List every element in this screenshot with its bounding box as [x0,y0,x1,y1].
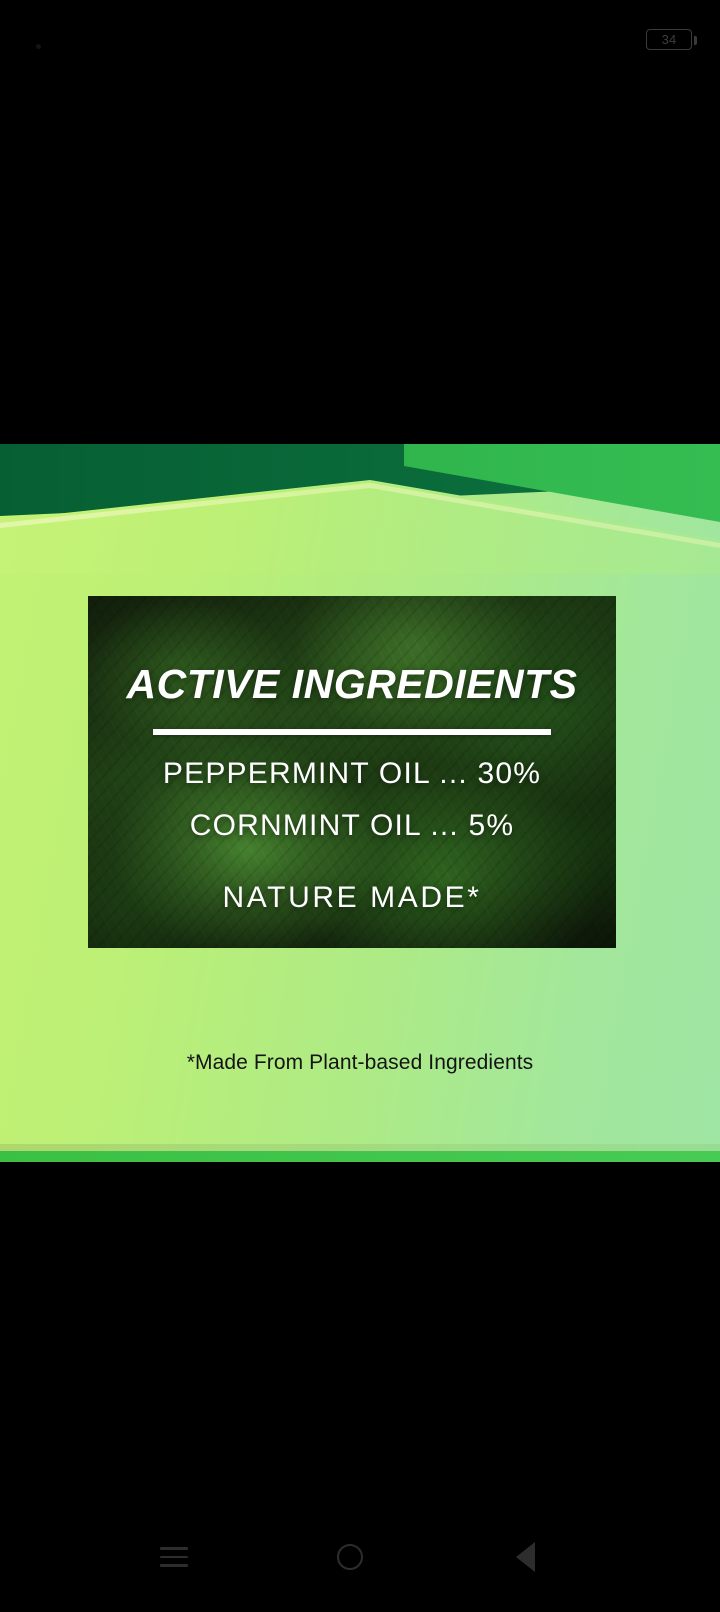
title-divider [153,729,551,735]
nav-back-button[interactable] [465,1502,585,1612]
nav-recents-button[interactable] [114,1502,234,1612]
home-circle-icon [337,1544,363,1570]
status-bar: 34 [0,0,720,70]
battery-icon: 34 [646,29,692,50]
ingredient-row: CORNMINT OIL ... 5% [190,811,515,841]
ingredients-photo-panel: ACTIVE INGREDIENTS PEPPERMINT OIL ... 30… [88,596,616,948]
recents-icon [160,1547,188,1567]
back-triangle-icon [516,1542,535,1572]
status-left-indicator [36,44,41,49]
phone-screen: 34 ACTIVE INGREDIENTS PEPPERMINT OIL ...… [0,0,720,1612]
android-nav-bar [0,1502,720,1612]
presentation-slide: ACTIVE INGREDIENTS PEPPERMINT OIL ... 30… [0,444,720,1162]
slide-bottom-soft-strip [0,1144,720,1151]
ingredient-row: PEPPERMINT OIL ... 30% [163,759,541,789]
panel-content: ACTIVE INGREDIENTS PEPPERMINT OIL ... 30… [88,596,616,948]
battery-level-label: 34 [662,33,677,46]
slide-bottom-strip [0,1151,720,1162]
nav-home-button[interactable] [290,1502,410,1612]
tagline: NATURE MADE* [223,883,482,913]
footnote-text: *Made From Plant-based Ingredients [0,1052,720,1073]
page-title: ACTIVE INGREDIENTS [127,664,578,705]
